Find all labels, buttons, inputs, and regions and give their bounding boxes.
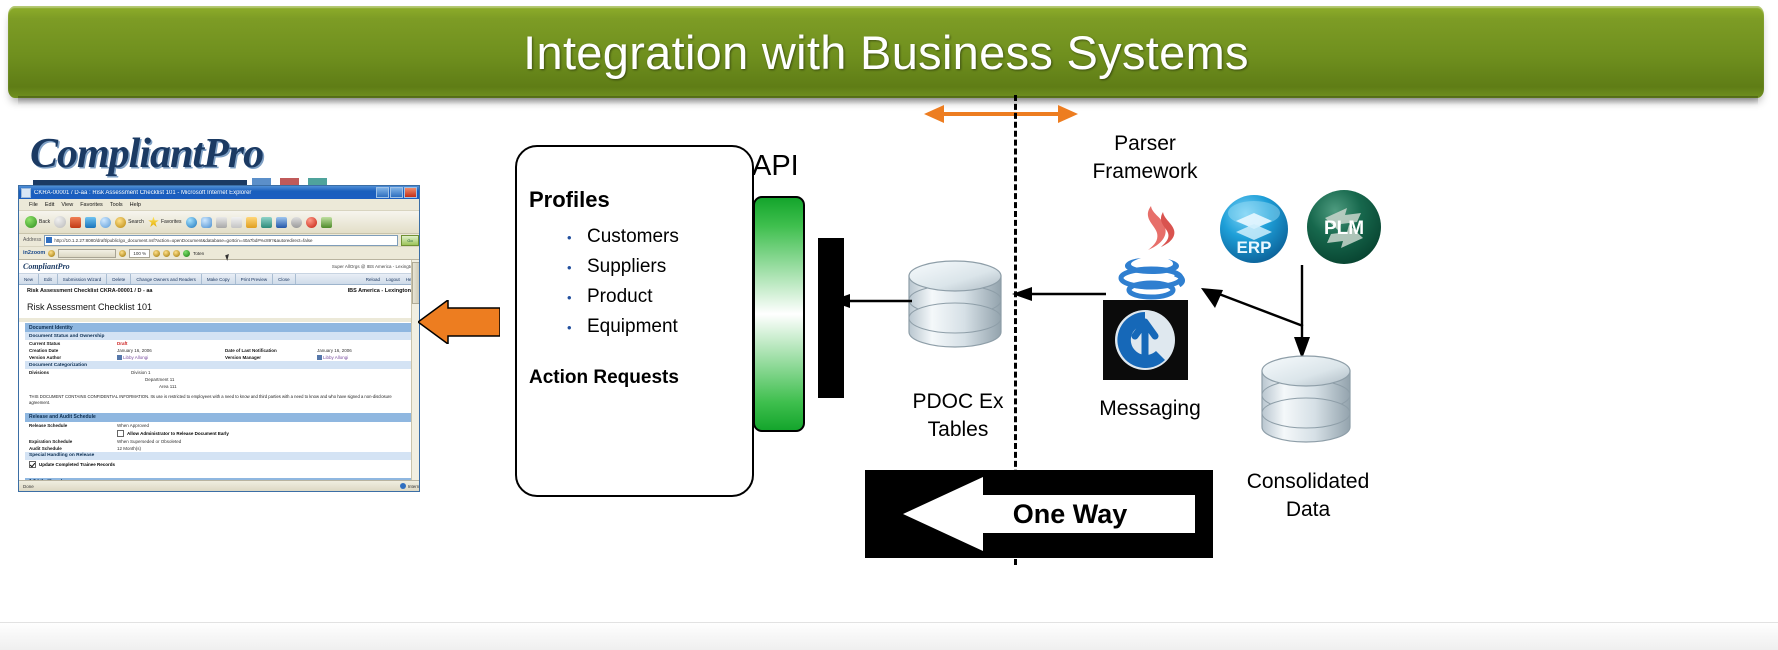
field-row-current-status: Current Status Draft	[25, 340, 413, 347]
back-icon[interactable]	[25, 216, 37, 228]
internet-zone-icon	[400, 483, 406, 489]
app-menu-print-preview[interactable]: Print Preview	[236, 274, 274, 284]
checkbox-allow-admin-release[interactable]	[117, 430, 124, 437]
print-icon[interactable]	[231, 217, 242, 228]
field-row-audit-schedule: Audit Schedule 12 Month(s)	[25, 445, 413, 452]
search-label[interactable]: Search	[128, 219, 144, 225]
subsection-status-ownership: Document Status and Ownership	[25, 332, 413, 340]
history-icon[interactable]	[201, 217, 212, 228]
address-value: http://10.1.2.27:8080/draft/public/go_do…	[54, 238, 312, 243]
zoom-in-icon[interactable]	[153, 250, 160, 257]
field-row-version-author: Version Author Libby Allongi Version Man…	[25, 354, 413, 361]
parser-label-line2: Framework	[1080, 158, 1210, 186]
logo-text-pro: Pro	[203, 131, 263, 177]
field-value-release-schedule: When Approved	[117, 423, 149, 428]
scrollbar-thumb[interactable]	[412, 262, 420, 304]
app-menu-change-owners[interactable]: Change Owners and Readers	[131, 274, 202, 284]
internet-explorer-window: CKRA-00001 / D-aa : Risk Assessment Chec…	[18, 185, 420, 492]
document-body: Document Identity Document Status and Ow…	[19, 322, 419, 487]
address-input[interactable]: http://10.1.2.27:8080/draft/public/go_do…	[44, 235, 398, 246]
app-menu-logout[interactable]: Logout	[386, 277, 400, 282]
arrow-plm-to-consolidated	[1285, 265, 1319, 361]
field-label-audit-schedule: Audit Schedule	[29, 446, 117, 451]
field-label-current-status: Current Status	[29, 341, 117, 346]
close-icon[interactable]	[404, 187, 417, 198]
division-value-3: Area 111	[117, 384, 177, 391]
division-value-1: Division 1	[117, 370, 177, 377]
pdoc-database-icon	[905, 258, 1005, 350]
field-label-version-author: Version Author	[29, 355, 117, 360]
menu-item-favorites[interactable]: Favorites	[80, 202, 103, 208]
field-row-divisions: Divisions Division 1 Department 11 Area …	[25, 369, 413, 391]
subsection-special-handling: Special Handling on Release	[25, 452, 413, 460]
window-title: CKRA-00001 / D-aa : Risk Assessment Chec…	[34, 190, 375, 196]
address-bar: Address http://10.1.2.27:8080/draft/publ…	[19, 234, 419, 247]
stop-icon[interactable]	[70, 217, 81, 228]
edit-icon[interactable]	[261, 217, 272, 228]
maximize-button[interactable]	[390, 187, 403, 198]
bullet-icon: •	[567, 320, 587, 335]
contact-card-icon	[117, 355, 122, 360]
consolidated-database-icon	[1258, 353, 1354, 445]
app-menu-delete[interactable]: Delete	[107, 274, 131, 284]
profiles-panel: Profiles • Customers • Suppliers • Produ…	[515, 145, 754, 497]
app-user-label: Super AllOrgs @ IBS America - Lexington	[332, 264, 415, 269]
list-item: • Product	[567, 282, 747, 312]
one-way-label: One Way	[865, 465, 1213, 563]
back-label[interactable]: Back	[39, 219, 50, 225]
zoom-reset-icon[interactable]	[163, 250, 170, 257]
one-way-banner: One Way	[865, 465, 1213, 563]
status-text: Done	[23, 484, 34, 489]
java-icon	[1105, 200, 1197, 305]
logo-text: CompliantPro	[30, 131, 263, 177]
checkbox-row-update-trainee-records[interactable]: Update Completed Trainee Records	[25, 460, 413, 469]
messenger-icon[interactable]	[291, 217, 302, 228]
checkbox-row-allow-admin-release[interactable]: Allow Administrator to Release Document …	[25, 429, 413, 438]
checkbox-update-trainee-records[interactable]	[29, 461, 36, 468]
orange-arrow-to-compliantpro	[418, 300, 500, 344]
menu-item-view[interactable]: View	[61, 202, 73, 208]
field-value-audit-schedule: 12 Month(s)	[117, 446, 141, 451]
field-row-creation-date: Creation Date January 16, 2006 Date of L…	[25, 347, 413, 354]
page-title-banner: Integration with Business Systems	[8, 6, 1764, 98]
page-favicon	[46, 237, 52, 243]
field-label-divisions: Divisions	[29, 370, 117, 390]
search-toolbar: in2zoom 100 % Toten	[19, 247, 419, 260]
favorites-label[interactable]: Favorites	[161, 219, 182, 225]
list-item: • Equipment	[567, 312, 747, 342]
search-icon[interactable]	[115, 217, 126, 228]
banner-shadow	[18, 96, 1758, 105]
minimize-button[interactable]	[376, 187, 389, 198]
status-zone-label: Internet	[408, 484, 420, 489]
field-row-expiration-schedule: Expiration Schedule When Superseded or O…	[25, 438, 413, 445]
profile-item-customers: Customers	[587, 226, 679, 248]
zoom-level-value[interactable]: 100 %	[129, 249, 150, 258]
document-heading: Risk Assessment Checklist 101	[19, 297, 419, 318]
ie-app-icon	[21, 188, 31, 198]
address-label: Address	[23, 237, 41, 243]
breadcrumb: Risk Assessment Checklist CKRA-00001 / D…	[27, 288, 152, 294]
checkbox-label-update-trainee-records: Update Completed Trainee Records	[39, 462, 115, 467]
profiles-list: • Customers • Suppliers • Product • Equi…	[567, 222, 747, 342]
zoom-fit-icon[interactable]	[173, 250, 180, 257]
section-header-document-identity: Document Identity	[25, 322, 413, 332]
zoom-slider[interactable]	[58, 249, 116, 258]
zoom-out-icon[interactable]	[119, 250, 126, 257]
checkbox-label-allow-admin-release: Allow Administrator to Release Document …	[127, 431, 229, 436]
erp-label: ERP	[1237, 238, 1272, 257]
field-value-version-manager[interactable]: Libby Allongi	[323, 355, 348, 360]
organization-label: IBS America - Lexington	[348, 288, 411, 294]
app-menu-make-copy[interactable]: Make Copy	[202, 274, 236, 284]
app-brand-bar: CompliantPro Super AllOrgs @ IBS America…	[19, 260, 419, 274]
go-button[interactable]: Go	[401, 235, 419, 246]
toolbar-green-icon[interactable]	[183, 250, 190, 257]
app-menu-submission-wizard[interactable]: Submission Wizard	[58, 274, 108, 284]
menu-item-edit[interactable]: Edit	[45, 202, 54, 208]
field-value-last-notification: January 16, 2006	[317, 348, 352, 353]
api-green-bar	[753, 196, 805, 432]
consolidated-label-line2: Data	[1228, 496, 1388, 524]
bottom-fade	[0, 622, 1778, 650]
bidirectional-orange-arrow	[920, 100, 1082, 128]
division-value-2: Department 11	[117, 377, 177, 384]
api-label: API	[752, 150, 799, 183]
app-menu-reload[interactable]: Reload	[366, 277, 380, 282]
app-logo-text: CompliantPro	[23, 262, 70, 271]
in2zoom-brand: in2zoom	[23, 250, 45, 256]
consolidated-label-line1: Consolidated	[1228, 468, 1388, 496]
erp-icon: ERP	[1218, 193, 1290, 265]
field-label-version-manager: Version Manager	[225, 355, 317, 360]
status-zone: Internet	[400, 483, 420, 489]
media-icon[interactable]	[186, 217, 197, 228]
section-header-release-audit: Release and Audit Schedule	[25, 412, 413, 422]
status-badge: Draft	[117, 341, 225, 346]
list-item: • Suppliers	[567, 252, 747, 282]
list-item: • Customers	[567, 222, 747, 252]
profile-item-suppliers: Suppliers	[587, 256, 666, 278]
profile-item-equipment: Equipment	[587, 316, 678, 338]
confidentiality-notice: THIS DOCUMENT CONTAINS CONFIDENTIAL INFO…	[25, 391, 413, 407]
pdoc-tables-label-line1: PDOC Ex	[893, 388, 1023, 416]
profile-item-product: Product	[587, 286, 652, 308]
compliantpro-logo: CompliantPro	[30, 130, 330, 192]
menu-bar: File Edit View Favorites Tools Help	[19, 199, 419, 211]
api-black-bar	[818, 238, 844, 398]
discuss-icon[interactable]	[276, 217, 287, 228]
field-value-creation-date: January 16, 2006	[117, 348, 225, 353]
window-titlebar: CKRA-00001 / D-aa : Risk Assessment Chec…	[19, 186, 419, 199]
plm-icon: PLM	[1305, 188, 1383, 266]
consolidated-data-label: Consolidated Data	[1228, 468, 1388, 525]
refresh-icon[interactable]	[85, 217, 96, 228]
messaging-label: Messaging	[1080, 395, 1220, 423]
plm-label: PLM	[1324, 218, 1364, 239]
menu-item-help[interactable]: Help	[130, 202, 141, 208]
parser-label-line1: Parser	[1080, 130, 1210, 158]
app-action-menu: New Edit Submission Wizard Delete Change…	[19, 274, 419, 285]
bullet-icon: •	[567, 260, 587, 275]
forward-icon[interactable]	[54, 216, 66, 228]
field-label-expiration-schedule: Expiration Schedule	[29, 439, 117, 444]
subsection-document-categorization: Document Categorization	[25, 361, 413, 369]
app-menu-close[interactable]: Close	[273, 274, 296, 284]
page-title: Integration with Business Systems	[523, 25, 1249, 80]
document-breadcrumb-bar: Risk Assessment Checklist CKRA-00001 / D…	[19, 285, 419, 297]
contact-card-icon-2	[317, 355, 322, 360]
zoom-search-icon[interactable]	[48, 250, 55, 257]
field-value-version-author[interactable]: Libby Allongi	[123, 355, 148, 360]
mule-messaging-icon	[1103, 300, 1188, 380]
pdoc-tables-label: PDOC Ex Tables	[893, 388, 1023, 445]
field-row-release-schedule: Release Schedule When Approved	[25, 422, 413, 429]
field-label-release-schedule: Release Schedule	[29, 423, 117, 428]
field-label-last-notification: Date of Last Notification	[225, 348, 317, 353]
vertical-scrollbar[interactable]	[411, 260, 419, 481]
arrow-db-to-api	[828, 292, 912, 310]
profiles-title: Profiles	[529, 187, 610, 213]
home-icon[interactable]	[100, 217, 111, 228]
status-bar: Done Internet	[19, 480, 420, 491]
favorites-icon[interactable]	[148, 217, 159, 228]
addon-icon[interactable]	[321, 217, 332, 228]
menu-item-file[interactable]: File	[29, 202, 38, 208]
folder-icon[interactable]	[246, 217, 257, 228]
parser-framework-label: Parser Framework	[1080, 130, 1210, 187]
field-value-divisions: Division 1 Department 11 Area 111	[117, 370, 177, 390]
bullet-icon: •	[567, 230, 587, 245]
field-label-creation-date: Creation Date	[29, 348, 117, 353]
menu-item-tools[interactable]: Tools	[110, 202, 123, 208]
mail-icon[interactable]	[216, 217, 227, 228]
arrow-messaging-to-db	[1010, 285, 1106, 303]
toolbar-label[interactable]: Toten	[193, 251, 204, 256]
block-icon[interactable]	[306, 217, 317, 228]
field-value-expiration-schedule: When Superseded or Obsoleted	[117, 439, 181, 444]
app-menu-new[interactable]: New	[19, 274, 39, 284]
action-requests-label: Action Requests	[529, 367, 679, 389]
bullet-icon: •	[567, 290, 587, 305]
logo-text-compliant: Compliant	[30, 131, 203, 177]
app-menu-edit[interactable]: Edit	[39, 274, 58, 284]
browser-toolbar: Back Search Favorites	[19, 211, 419, 234]
pdoc-tables-label-line2: Tables	[893, 416, 1023, 444]
